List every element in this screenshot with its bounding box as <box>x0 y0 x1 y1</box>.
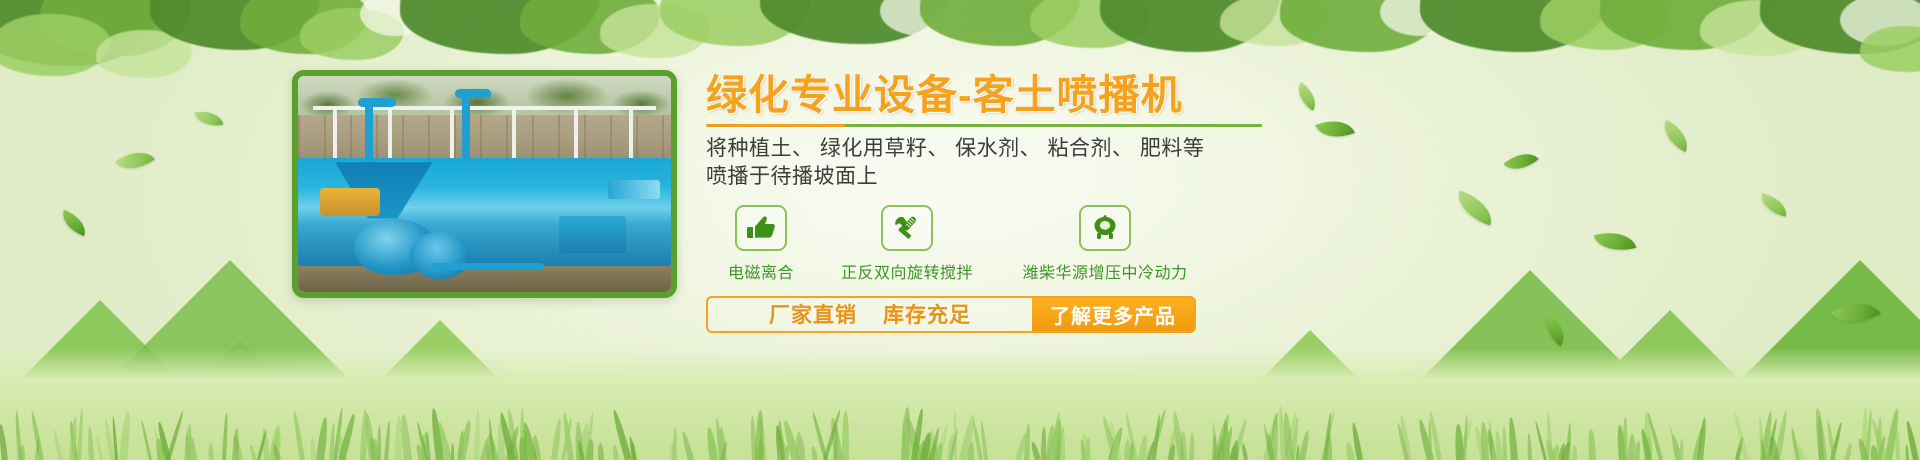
title-underline <box>706 124 1262 127</box>
leaf-icon <box>1503 145 1538 179</box>
cta-slogan-right: 库存充足 <box>883 299 971 329</box>
leaf-icon <box>1758 193 1789 216</box>
leaf-icon <box>115 142 155 179</box>
product-photo[interactable] <box>292 70 677 298</box>
subtitle-line-2: 喷播于待播坡面上 <box>706 163 1406 191</box>
feature-label-2: 正反双向旋转搅拌 <box>841 259 973 283</box>
feature-item-3[interactable]: 潍柴华源增压中冷动力 <box>998 205 1212 283</box>
banner-content: 绿化专业设备-客土喷播机 将种植土、 绿化用草籽、 保水剂、 粘合剂、 肥料等 … <box>706 74 1406 333</box>
feature-list: 电磁离合 正反双向旋转搅 <box>706 205 1406 283</box>
leaf-icon <box>1452 190 1497 225</box>
cta-bar: 厂家直销 库存充足 了解更多产品 <box>706 296 1196 333</box>
cta-slogan-left: 厂家直销 <box>769 299 857 329</box>
feature-label-1: 电磁离合 <box>728 259 794 283</box>
leaf-icon <box>1657 120 1695 153</box>
banner-subtitle: 将种植土、 绿化用草籽、 保水剂、 粘合剂、 肥料等 喷播于待播坡面上 <box>706 135 1406 190</box>
subtitle-line-1: 将种植土、 绿化用草籽、 保水剂、 粘合剂、 肥料等 <box>706 135 1406 163</box>
product-photo-image <box>298 76 671 292</box>
engine-gear-icon <box>1079 205 1131 251</box>
learn-more-button[interactable]: 了解更多产品 <box>1032 298 1194 331</box>
banner-stage: 绿化专业设备-客土喷播机 将种植土、 绿化用草籽、 保水剂、 粘合剂、 肥料等 … <box>0 0 1920 460</box>
thumbs-up-icon <box>735 205 787 251</box>
feature-item-1[interactable]: 电磁离合 <box>706 205 816 283</box>
grass-blades <box>0 360 1920 460</box>
feature-label-3: 潍柴华源增压中冷动力 <box>1022 259 1187 283</box>
feature-item-2[interactable]: 正反双向旋转搅拌 <box>816 205 998 283</box>
cta-slogan: 厂家直销 库存充足 <box>708 299 1032 329</box>
wrench-screwdriver-icon <box>881 205 933 251</box>
